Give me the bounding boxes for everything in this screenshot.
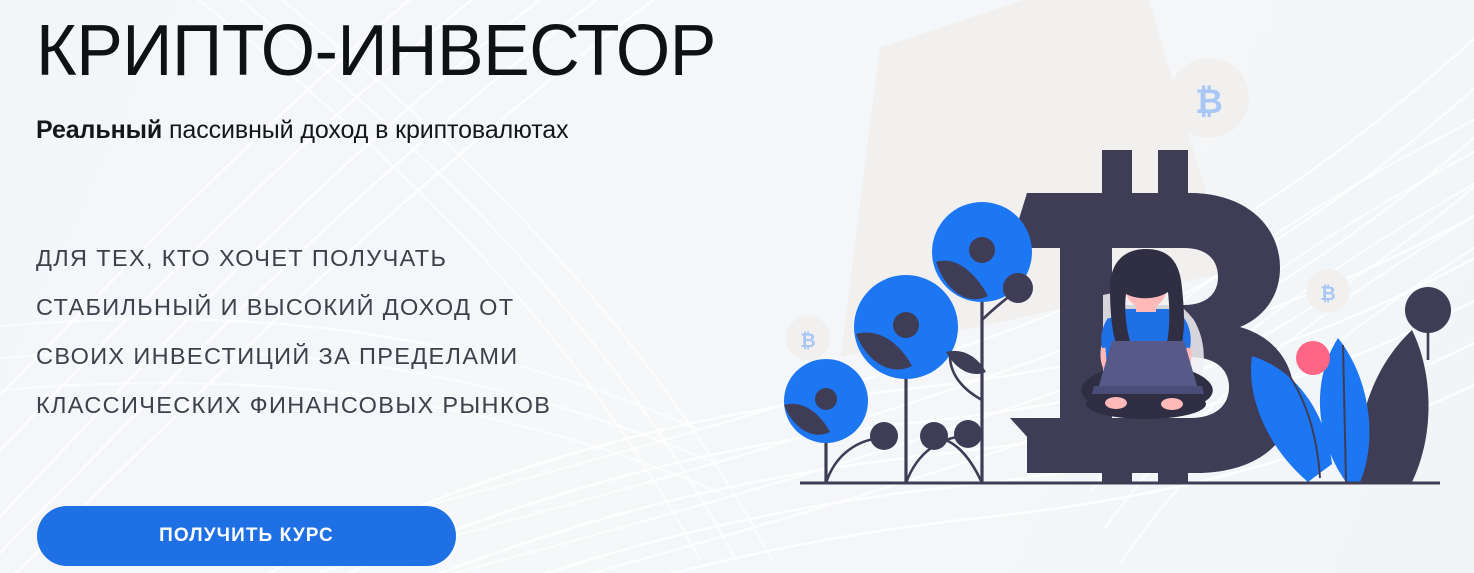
flower-plant-small	[784, 359, 898, 483]
bitcoin-coin-badge-left: ₿	[786, 316, 830, 360]
crypto-illustration: ₿ ₿ ₿	[760, 0, 1474, 573]
hero-subtitle: Реальный пассивный доход в криптовалютах	[36, 113, 569, 147]
hero-description-line: ДЛЯ ТЕХ, КТО ХОЧЕТ ПОЛУЧАТЬ	[36, 234, 551, 283]
svg-text:₿: ₿	[800, 331, 815, 352]
hero-banner: КРИПТО-ИНВЕСТОР Реальный пассивный доход…	[0, 0, 1474, 573]
leaf-plant-right	[1251, 287, 1451, 482]
hero-copy: КРИПТО-ИНВЕСТОР Реальный пассивный доход…	[36, 0, 756, 573]
hero-description: ДЛЯ ТЕХ, КТО ХОЧЕТ ПОЛУЧАТЬ СТАБИЛЬНЫЙ И…	[36, 234, 551, 430]
svg-text:₿: ₿	[1195, 83, 1223, 121]
hero-description-line: КЛАССИЧЕСКИХ ФИНАНСОВЫХ РЫНКОВ	[36, 381, 551, 430]
bitcoin-coin-badge-right: ₿	[1306, 269, 1350, 313]
hero-description-line: СТАБИЛЬНЫЙ И ВЫСОКИЙ ДОХОД ОТ	[36, 283, 551, 332]
hero-subtitle-rest: пассивный доход в криптовалютах	[162, 116, 568, 144]
get-course-button[interactable]: ПОЛУЧИТЬ КУРС	[37, 506, 456, 566]
hero-subtitle-strong: Реальный	[36, 116, 162, 144]
page-title: КРИПТО-ИНВЕСТОР	[36, 8, 716, 94]
bitcoin-coin-badge-top: ₿	[1169, 58, 1249, 138]
hero-description-line: СВОИХ ИНВЕСТИЦИЙ ЗА ПРЕДЕЛАМИ	[36, 332, 551, 381]
svg-text:₿: ₿	[1320, 284, 1335, 305]
